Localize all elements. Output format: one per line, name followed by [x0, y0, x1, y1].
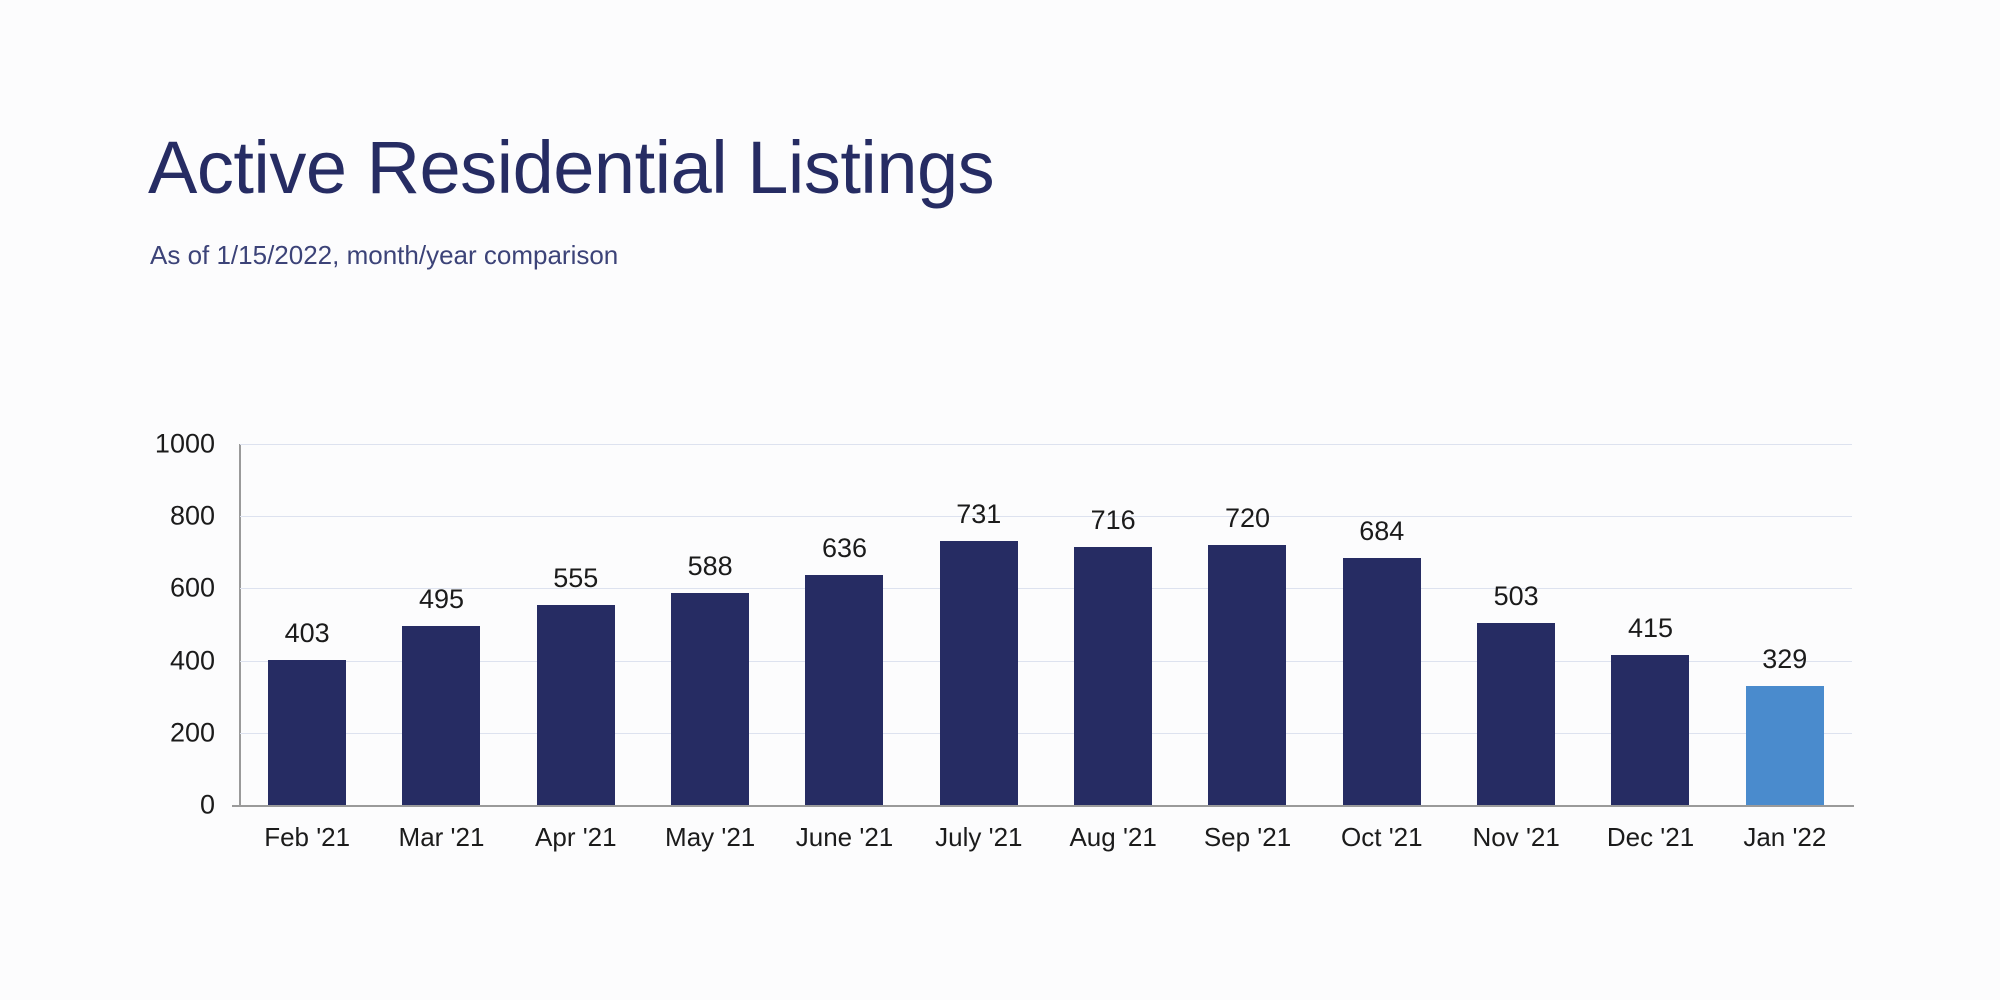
bar-value-label: 636	[822, 533, 867, 564]
bar[interactable]	[1074, 547, 1152, 805]
bar-slot: 731	[912, 444, 1046, 805]
page-title: Active Residential Listings	[148, 131, 994, 205]
bar-value-label: 588	[688, 551, 733, 582]
bar[interactable]	[671, 593, 749, 805]
bar[interactable]	[402, 626, 480, 805]
bar[interactable]	[537, 605, 615, 805]
bar-slot: 403	[240, 444, 374, 805]
y-axis-tick-label: 400	[95, 645, 215, 676]
bar[interactable]	[1343, 558, 1421, 805]
chart-canvas: Active Residential Listings As of 1/15/2…	[0, 0, 2000, 1000]
bar[interactable]	[940, 541, 1018, 805]
bar-slot: 588	[643, 444, 777, 805]
bar-slot: 684	[1315, 444, 1449, 805]
bar[interactable]	[1746, 686, 1824, 805]
y-axis-tick-label: 1000	[95, 429, 215, 460]
chart-subtitle: As of 1/15/2022, month/year comparison	[150, 240, 618, 271]
bar-value-label: 403	[285, 618, 330, 649]
bar-slot: 495	[374, 444, 508, 805]
y-axis-tick-label: 600	[95, 573, 215, 604]
bar-slot: 720	[1180, 444, 1314, 805]
y-axis-tick-label: 0	[95, 790, 215, 821]
bar-value-label: 716	[1091, 505, 1136, 536]
bar-value-label: 731	[956, 499, 1001, 530]
bar-value-label: 415	[1628, 613, 1673, 644]
bar-slot: 555	[509, 444, 643, 805]
bar[interactable]	[1611, 655, 1689, 805]
bar[interactable]	[805, 575, 883, 805]
bar-slot: 716	[1046, 444, 1180, 805]
bar[interactable]	[268, 660, 346, 805]
bar-value-label: 684	[1359, 516, 1404, 547]
bar-value-label: 329	[1762, 644, 1807, 675]
y-axis-tick-label: 200	[95, 717, 215, 748]
bar-slot: 636	[777, 444, 911, 805]
bar-slot: 415	[1583, 444, 1717, 805]
bar-value-label: 495	[419, 584, 464, 615]
x-axis-tick-label: Jan '22	[1685, 822, 1885, 853]
x-axis-line	[232, 805, 1854, 807]
bar-slot: 329	[1718, 444, 1852, 805]
bar[interactable]	[1477, 623, 1555, 805]
bar-slot: 503	[1449, 444, 1583, 805]
bar-value-label: 720	[1225, 503, 1270, 534]
bar-value-label: 503	[1494, 581, 1539, 612]
y-axis-tick-label: 800	[95, 501, 215, 532]
bar[interactable]	[1208, 545, 1286, 805]
plot-area: 403495555588636731716720684503415329	[240, 444, 1852, 805]
bar-value-label: 555	[553, 563, 598, 594]
